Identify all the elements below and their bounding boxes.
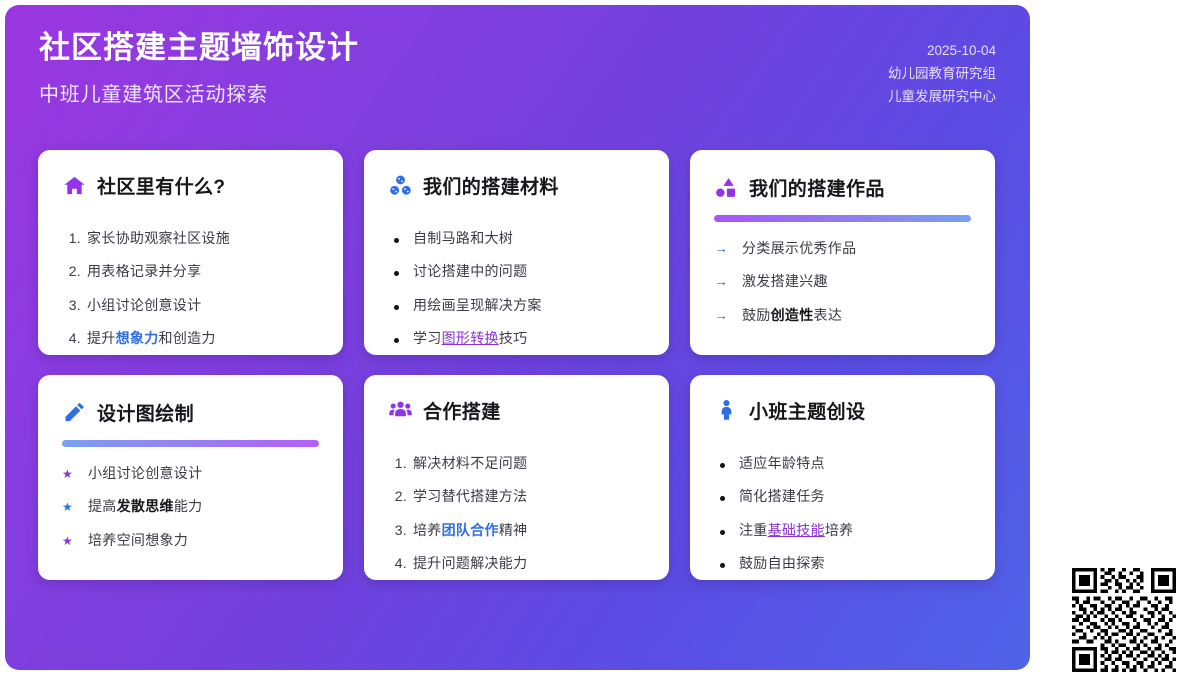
list-item[interactable]: 讨论搭建中的问题 <box>388 261 645 281</box>
list-item-text-pre: 学习 <box>413 330 442 346</box>
list-item-text-pre: 适应年龄特点 <box>739 455 825 471</box>
list-item[interactable]: ★培养空间想象力 <box>62 530 319 550</box>
list-item-text-pre: 学习替代搭建方法 <box>413 488 527 504</box>
list-marker-bullet <box>388 338 405 343</box>
list-item[interactable]: 注重基础技能培养 <box>714 520 971 540</box>
list-marker-bullet <box>714 563 731 568</box>
list-item[interactable]: 2.学习替代搭建方法 <box>388 486 645 506</box>
list-marker-number: 3. <box>388 520 407 540</box>
list-marker-number: 2. <box>388 486 407 506</box>
list-item-label: 提升想象力和创造力 <box>87 328 319 348</box>
list-marker-bullet <box>388 305 405 310</box>
list-item[interactable]: ★小组讨论创意设计 <box>62 463 319 483</box>
card-header: 合作搭建 <box>388 397 645 424</box>
list-item[interactable]: →分类展示优秀作品 <box>714 238 971 258</box>
list-item-text-pre: 家长协助观察社区设施 <box>87 230 230 246</box>
list-marker-star-icon: ★ <box>62 535 80 547</box>
card-divider <box>62 440 319 447</box>
list-item-text-post: 技巧 <box>499 330 528 346</box>
card-list: ★小组讨论创意设计★提高发散思维能力★培养空间想象力 <box>62 463 319 563</box>
card-header: 小班主题创设 <box>714 397 971 424</box>
list-item[interactable]: 学习图形转换技巧 <box>388 328 645 348</box>
list-item[interactable]: 1.解决材料不足问题 <box>388 453 645 473</box>
card-title: 小班主题创设 <box>749 397 865 424</box>
list-item-text-pre: 用绘画呈现解决方案 <box>413 297 542 313</box>
list-item-text-pre: 鼓励 <box>742 307 771 323</box>
list-item-text-post: 培养 <box>825 522 854 538</box>
list-item-label: 提高发散思维能力 <box>88 496 319 516</box>
list-item-label: 简化搭建任务 <box>739 486 971 506</box>
card-list: 1.家长协助观察社区设施2.用表格记录并分享3.小组讨论创意设计4.提升想象力和… <box>62 228 319 355</box>
list-item-text-post: 精神 <box>499 522 528 538</box>
home-icon <box>62 174 86 198</box>
list-item-label: 用绘画呈现解决方案 <box>413 295 645 315</box>
header-center: 儿童发展研究中心 <box>888 85 996 108</box>
list-item-label: 适应年龄特点 <box>739 453 971 473</box>
list-item-label: 自制马路和大树 <box>413 228 645 248</box>
list-marker-number: 3. <box>62 295 81 315</box>
card-header: 我们的搭建作品 <box>714 172 971 202</box>
list-marker-bullet <box>714 463 731 468</box>
list-item-text-post: 能力 <box>174 498 203 514</box>
list-item-highlight: 发散思维 <box>117 498 174 514</box>
slide-page: 社区搭建主题墙饰设计 中班儿童建筑区活动探索 2025-10-04 幼儿园教育研… <box>0 0 1200 675</box>
list-item-text-pre: 提高 <box>88 498 117 514</box>
list-marker-number: 1. <box>62 228 81 248</box>
list-marker-number: 4. <box>62 328 81 348</box>
list-item-label: 分类展示优秀作品 <box>742 238 971 258</box>
content-card[interactable]: 小班主题创设适应年龄特点简化搭建任务注重基础技能培养鼓励自由探索 <box>690 375 995 580</box>
list-item-text-pre: 提升问题解决能力 <box>413 555 527 571</box>
slide-canvas: 社区搭建主题墙饰设计 中班儿童建筑区活动探索 2025-10-04 幼儿园教育研… <box>5 5 1030 670</box>
card-title: 设计图绘制 <box>97 399 194 426</box>
list-item-label: 讨论搭建中的问题 <box>413 261 645 281</box>
list-item-highlight: 团队合作 <box>442 522 499 538</box>
content-card[interactable]: 设计图绘制★小组讨论创意设计★提高发散思维能力★培养空间想象力 <box>38 375 343 580</box>
list-item[interactable]: 2.用表格记录并分享 <box>62 261 319 281</box>
list-item[interactable]: 自制马路和大树 <box>388 228 645 248</box>
list-item[interactable]: →激发搭建兴趣 <box>714 271 971 291</box>
header-title-group: 社区搭建主题墙饰设计 中班儿童建筑区活动探索 <box>39 29 359 107</box>
list-item-label: 用表格记录并分享 <box>87 261 319 281</box>
list-item[interactable]: 3.培养团队合作精神 <box>388 520 645 540</box>
list-item[interactable]: 用绘画呈现解决方案 <box>388 295 645 315</box>
page-subtitle: 中班儿童建筑区活动探索 <box>39 78 359 107</box>
card-header: 我们的搭建材料 <box>388 172 645 199</box>
list-item[interactable]: 1.家长协助观察社区设施 <box>62 228 319 248</box>
list-item-text-pre: 鼓励自由探索 <box>739 555 825 571</box>
list-marker-bullet <box>388 238 405 243</box>
list-marker-bullet <box>714 530 731 535</box>
card-header: 设计图绘制 <box>62 397 319 427</box>
list-item-text-pre: 解决材料不足问题 <box>413 455 527 471</box>
list-item-text-pre: 用表格记录并分享 <box>87 263 201 279</box>
card-divider <box>714 215 971 222</box>
list-item-label: 鼓励创造性表达 <box>742 305 971 325</box>
list-item-label: 培养团队合作精神 <box>413 520 645 540</box>
list-item-text-pre: 分类展示优秀作品 <box>742 240 856 256</box>
list-item-text-pre: 注重 <box>739 522 768 538</box>
list-item-label: 小组讨论创意设计 <box>88 463 319 483</box>
cubes-icon <box>388 174 412 198</box>
list-item-label: 注重基础技能培养 <box>739 520 971 540</box>
list-item-highlight[interactable]: 基础技能 <box>768 522 825 538</box>
list-item-label: 学习图形转换技巧 <box>413 328 645 348</box>
list-marker-number: 2. <box>62 261 81 281</box>
list-item-text-pre: 讨论搭建中的问题 <box>413 263 527 279</box>
list-marker-bullet <box>388 271 405 276</box>
card-header: 社区里有什么? <box>62 172 319 199</box>
content-card[interactable]: 合作搭建1.解决材料不足问题2.学习替代搭建方法3.培养团队合作精神4.提升问题… <box>364 375 669 580</box>
card-list: →分类展示优秀作品→激发搭建兴趣→鼓励创造性表达 <box>714 238 971 338</box>
list-item[interactable]: 4.提升问题解决能力 <box>388 553 645 573</box>
list-item-text-pre: 小组讨论创意设计 <box>87 297 201 313</box>
card-title: 我们的搭建材料 <box>423 172 559 199</box>
list-item-label: 学习替代搭建方法 <box>413 486 645 506</box>
content-card[interactable]: 社区里有什么?1.家长协助观察社区设施2.用表格记录并分享3.小组讨论创意设计4… <box>38 150 343 355</box>
list-marker-star-icon: ★ <box>62 501 80 513</box>
card-title: 我们的搭建作品 <box>749 174 885 201</box>
list-item-label: 鼓励自由探索 <box>739 553 971 573</box>
list-item-text-post: 和创造力 <box>159 330 216 346</box>
child-icon <box>714 399 738 423</box>
header-organization: 幼儿园教育研究组 <box>888 62 996 85</box>
list-item-text-pre: 培养空间想象力 <box>88 532 188 548</box>
list-marker-arrow-icon: → <box>714 274 734 288</box>
card-title: 社区里有什么? <box>97 172 225 199</box>
header-date: 2025-10-04 <box>927 39 996 62</box>
list-item[interactable]: →鼓励创造性表达 <box>714 305 971 325</box>
list-marker-number: 4. <box>388 553 407 573</box>
pencil-icon <box>62 400 86 424</box>
qr-code[interactable] <box>1072 568 1180 668</box>
list-item-label: 提升问题解决能力 <box>413 553 645 573</box>
slide-header: 社区搭建主题墙饰设计 中班儿童建筑区活动探索 2025-10-04 幼儿园教育研… <box>5 5 1030 135</box>
content-card[interactable]: 我们的搭建作品→分类展示优秀作品→激发搭建兴趣→鼓励创造性表达 <box>690 150 995 355</box>
card-list: 自制马路和大树讨论搭建中的问题用绘画呈现解决方案学习图形转换技巧 <box>388 228 645 355</box>
list-item-highlight: 创造性 <box>771 307 814 323</box>
header-meta-group: 2025-10-04 幼儿园教育研究组 儿童发展研究中心 <box>888 29 996 109</box>
list-item[interactable]: 简化搭建任务 <box>714 486 971 506</box>
list-item-label: 小组讨论创意设计 <box>87 295 319 315</box>
list-marker-arrow-icon: → <box>714 308 734 322</box>
list-item-text-pre: 培养 <box>413 522 442 538</box>
list-item-text-pre: 激发搭建兴趣 <box>742 273 828 289</box>
list-item-label: 激发搭建兴趣 <box>742 271 971 291</box>
list-item-text-pre: 简化搭建任务 <box>739 488 825 504</box>
list-item[interactable]: 鼓励自由探索 <box>714 553 971 573</box>
users-icon <box>388 399 412 423</box>
list-item-text-pre: 提升 <box>87 330 116 346</box>
list-marker-number: 1. <box>388 453 407 473</box>
list-marker-bullet <box>714 496 731 501</box>
page-title: 社区搭建主题墙饰设计 <box>39 29 359 68</box>
shapes-icon <box>714 175 738 199</box>
list-item-highlight[interactable]: 图形转换 <box>442 330 499 346</box>
list-item[interactable]: 3.小组讨论创意设计 <box>62 295 319 315</box>
list-item-text-post: 表达 <box>814 307 843 323</box>
list-item[interactable]: 适应年龄特点 <box>714 453 971 473</box>
list-item-highlight: 想象力 <box>116 330 159 346</box>
list-item-label: 家长协助观察社区设施 <box>87 228 319 248</box>
list-item[interactable]: 4.提升想象力和创造力 <box>62 328 319 348</box>
list-item[interactable]: ★提高发散思维能力 <box>62 496 319 516</box>
list-item-label: 培养空间想象力 <box>88 530 319 550</box>
card-grid: 社区里有什么?1.家长协助观察社区设施2.用表格记录并分享3.小组讨论创意设计4… <box>38 150 998 580</box>
card-list: 适应年龄特点简化搭建任务注重基础技能培养鼓励自由探索 <box>714 453 971 580</box>
list-item-label: 解决材料不足问题 <box>413 453 645 473</box>
content-card[interactable]: 我们的搭建材料自制马路和大树讨论搭建中的问题用绘画呈现解决方案学习图形转换技巧 <box>364 150 669 355</box>
card-list: 1.解决材料不足问题2.学习替代搭建方法3.培养团队合作精神4.提升问题解决能力 <box>388 453 645 580</box>
list-item-text-pre: 小组讨论创意设计 <box>88 465 202 481</box>
list-item-text-pre: 自制马路和大树 <box>413 230 513 246</box>
list-marker-arrow-icon: → <box>714 241 734 255</box>
card-title: 合作搭建 <box>423 397 501 424</box>
list-marker-star-icon: ★ <box>62 468 80 480</box>
